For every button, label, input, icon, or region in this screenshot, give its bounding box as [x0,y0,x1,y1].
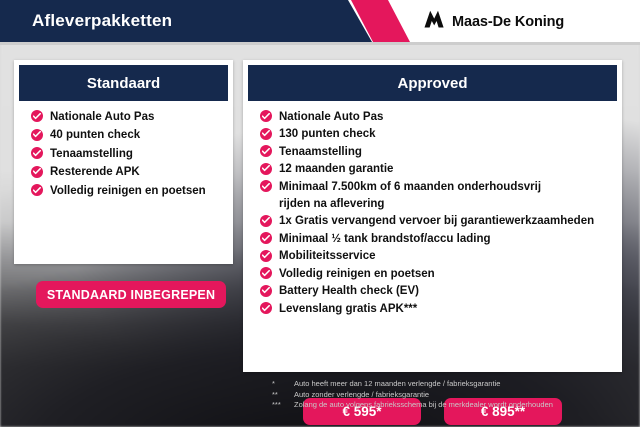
feature-text: 130 punten check [279,128,376,142]
feature-text: 12 maanden garantie [279,163,393,177]
list-item: 40 punten check [31,129,233,143]
feature-text: Nationale Auto Pas [279,110,383,124]
list-item: 12 maanden garantie [260,163,622,177]
feature-text: Volledig reinigen en poetsen [50,184,206,198]
check-icon [260,232,272,244]
list-item: 1x Gratis vervangend vervoer bij garanti… [260,215,622,229]
footnote-marker: *** [268,400,294,411]
check-icon [31,129,43,141]
check-icon [260,145,272,157]
card-body-approved: Nationale Auto Pas 130 punten check Tena… [243,101,622,316]
feature-list-approved: Nationale Auto Pas 130 punten check Tena… [260,110,622,316]
feature-text: Minimaal ½ tank brandstof/accu lading [279,232,491,246]
check-icon [31,166,43,178]
list-item: Volledig reinigen en poetsen [260,267,622,281]
list-item: Volledig reinigen en poetsen [31,184,233,198]
feature-list-standaard: Nationale Auto Pas 40 punten check Tenaa… [31,110,233,198]
footnote-single-star: * Auto heeft meer dan 12 maanden verleng… [268,379,628,390]
feature-text: Levenslang gratis APK*** [279,302,417,316]
footnote-text: Auto zonder verlengde / fabrieksgarantie [294,390,429,401]
feature-text: 1x Gratis vervangend vervoer bij garanti… [279,215,594,229]
footnote-double-star: ** Auto zonder verlengde / fabrieksgaran… [268,390,628,401]
package-card-approved: Approved Nationale Auto Pas 130 punten c… [243,60,622,372]
feature-text-line2: rijden na aflevering [279,198,541,211]
footnote-marker: ** [268,390,294,401]
maas-de-koning-m-icon [423,9,445,34]
footnote-text: Auto heeft meer dan 12 maanden verlengde… [294,379,500,390]
check-icon [31,110,43,122]
list-item: Levenslang gratis APK*** [260,302,622,316]
feature-text: Nationale Auto Pas [50,110,154,124]
list-item: Nationale Auto Pas [31,110,233,124]
feature-text: Tenaamstelling [50,147,133,161]
list-item: Tenaamstelling [260,145,622,159]
check-icon [260,302,272,314]
card-title-standaard: Standaard [19,65,228,101]
check-icon [260,285,272,297]
check-icon [260,163,272,175]
list-item: Tenaamstelling [31,147,233,161]
footnote-marker: * [268,379,294,390]
check-icon [31,184,43,196]
page-header: Afleverpakketten Maas-De Koning [0,0,640,42]
feature-text: Mobiliteitsservice [279,250,376,264]
page-title: Afleverpakketten [32,11,172,31]
footnote-text: Zolang de auto volgens fabrieksschema bi… [294,400,553,411]
feature-text: Resterende APK [50,166,140,180]
check-icon [260,128,272,140]
card-title-approved: Approved [248,65,617,101]
header-underline [0,42,640,45]
list-item: Battery Health check (EV) [260,285,622,299]
package-card-standaard: Standaard Nationale Auto Pas 40 punten c… [14,60,233,264]
check-icon [260,267,272,279]
footnotes: * Auto heeft meer dan 12 maanden verleng… [268,379,628,411]
check-icon [260,215,272,227]
check-icon [260,180,272,192]
list-item: 130 punten check [260,128,622,142]
footnote-triple-star: *** Zolang de auto volgens fabrieksschem… [268,400,628,411]
brand-name: Maas-De Koning [452,14,564,30]
list-item: Resterende APK [31,166,233,180]
check-icon [31,147,43,159]
check-icon [260,110,272,122]
feature-text: Battery Health check (EV) [279,285,419,299]
card-body-standaard: Nationale Auto Pas 40 punten check Tenaa… [14,101,233,198]
standaard-inbegrepen-button[interactable]: STANDAARD INBEGREPEN [36,281,226,308]
feature-text: Volledig reinigen en poetsen [279,267,435,281]
feature-text: Tenaamstelling [279,145,362,159]
list-item: Minimaal ½ tank brandstof/accu lading [260,232,622,246]
feature-text: 40 punten check [50,129,140,143]
list-item: Nationale Auto Pas [260,110,622,124]
brand-logo: Maas-De Koning [423,9,564,34]
list-item: Minimaal 7.500km of 6 maanden onderhouds… [260,180,622,211]
check-icon [260,250,272,262]
feature-text-wrapped: Minimaal 7.500km of 6 maanden onderhouds… [279,180,541,211]
list-item: Mobiliteitsservice [260,250,622,264]
feature-text-line1: Minimaal 7.500km of 6 maanden onderhouds… [279,181,541,193]
